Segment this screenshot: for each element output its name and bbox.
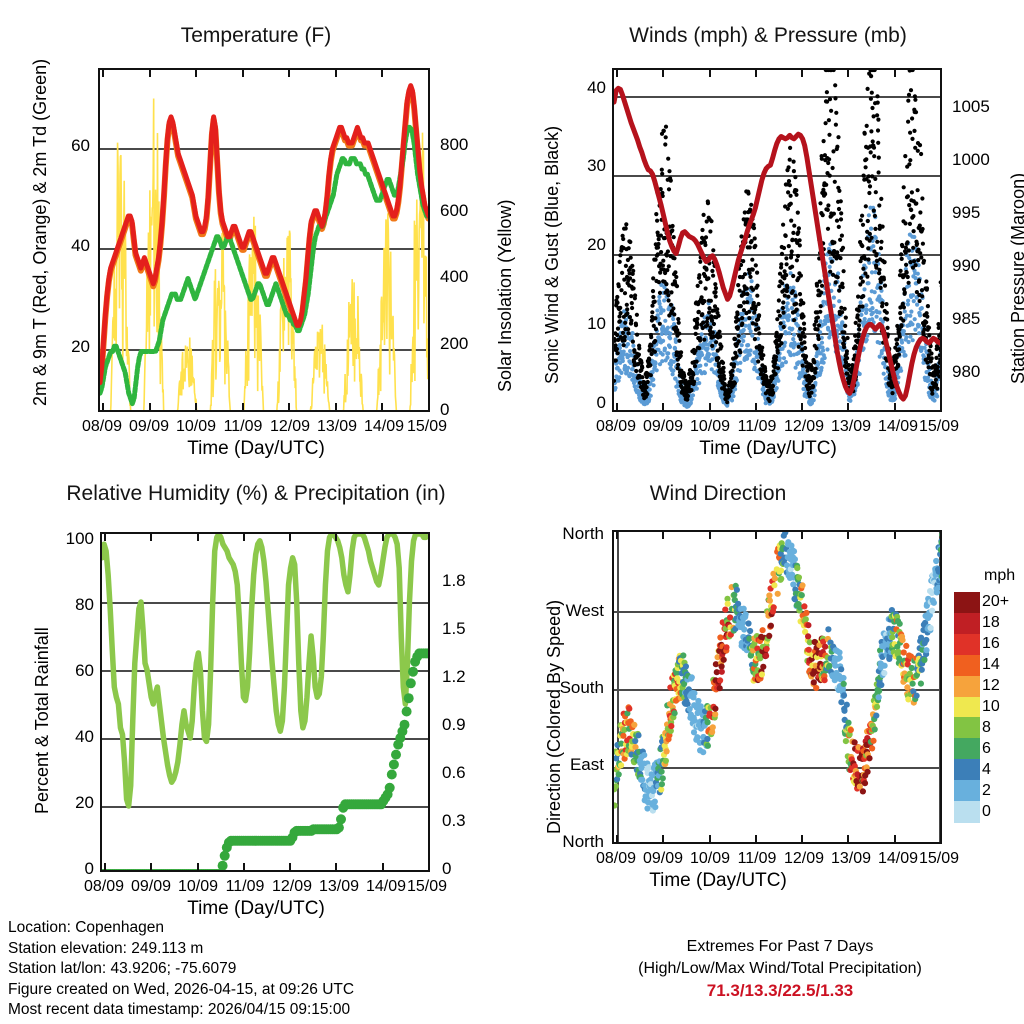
winds-y2tick-980: 980 bbox=[952, 362, 1006, 382]
winds-plot-area bbox=[612, 68, 942, 412]
humidity-xlabel: Time (Day/UTC) bbox=[0, 898, 512, 920]
temperature-y2tick-0: 0 bbox=[440, 400, 486, 420]
wind-direction-xlabel: Time (Day/UTC) bbox=[472, 870, 964, 892]
colorbar-band-10 bbox=[954, 697, 980, 719]
panel-temperature: Temperature (F) 2m & 9m T (Red, Orange) … bbox=[0, 14, 512, 460]
wind-direction-colorbar-labels: 20+181614121086420 bbox=[982, 592, 1024, 822]
winds-xticklabels: 08/09 09/09 10/09 11/09 12/09 13/09 14/0… bbox=[612, 418, 942, 440]
colorbar-band-20+ bbox=[954, 592, 980, 614]
winds-ytick-10: 10 bbox=[562, 314, 606, 334]
panel-winds-pressure: Winds (mph) & Pressure (mb) Sonic Wind &… bbox=[512, 14, 1024, 460]
wind-direction-colorbar-unit: mph bbox=[984, 567, 1015, 585]
winds-xlabel: Time (Day/UTC) bbox=[512, 438, 1024, 460]
wind-direction-ylabel: Direction (Colored By Speed) bbox=[544, 600, 565, 834]
x-tickmark bbox=[801, 532, 803, 539]
x-tickmark bbox=[662, 403, 664, 410]
colorbar-band-8 bbox=[954, 717, 980, 739]
humidity-y2tick-0_9-text: 0.9 bbox=[442, 715, 466, 734]
x-tickmark bbox=[382, 863, 384, 870]
winds-y2tick-995: 995 bbox=[952, 203, 1006, 223]
colorbar-label-10: 10 bbox=[982, 698, 1000, 716]
x-tickmark bbox=[755, 532, 757, 539]
x-tickmark bbox=[242, 70, 244, 77]
x-tickmark bbox=[335, 403, 337, 410]
temperature-series-svg bbox=[100, 70, 430, 412]
winds-title: Winds (mph) & Pressure (mb) bbox=[512, 24, 1024, 48]
winds-xtick-3: 11/09 bbox=[738, 418, 777, 436]
wind-direction-ytick-north-bottom: North bbox=[528, 832, 604, 852]
colorbar-label-18: 18 bbox=[982, 614, 1000, 632]
x-tickmark bbox=[940, 403, 942, 410]
x-tickmark bbox=[755, 70, 757, 77]
winds-xtick-4: 12/09 bbox=[784, 418, 824, 436]
extremes-subheading: (High/Low/Max Wind/Total Precipitation) bbox=[560, 958, 1000, 980]
wind-direction-xtick-5: 13/09 bbox=[831, 850, 871, 868]
figure-created: Figure created on Wed, 2026-04-15, at 09… bbox=[8, 980, 354, 1001]
colorbar-band-14 bbox=[954, 655, 980, 677]
x-tickmark bbox=[149, 70, 151, 77]
x-tickmark bbox=[102, 403, 104, 410]
colorbar-band-2 bbox=[954, 780, 980, 802]
winds-ytick-30: 30 bbox=[562, 156, 606, 176]
colorbar-band-12 bbox=[954, 676, 980, 698]
x-tickmark bbox=[662, 70, 664, 77]
x-tickmark bbox=[288, 70, 290, 77]
x-tickmark bbox=[755, 835, 757, 842]
x-tickmark bbox=[616, 403, 618, 410]
wind-direction-ytick-south: South bbox=[528, 678, 604, 698]
humidity-plot-area bbox=[100, 532, 430, 872]
wind-direction-plot-area bbox=[612, 530, 942, 844]
wind-direction-xtick-2: 10/09 bbox=[690, 850, 730, 868]
most-recent-data: Most recent data timestamp: 2026/04/15 0… bbox=[8, 1000, 354, 1021]
x-tickmark bbox=[616, 532, 618, 539]
x-tickmark bbox=[801, 403, 803, 410]
temperature-xtick-7: 15/09 bbox=[407, 418, 447, 436]
x-tickmark bbox=[243, 863, 245, 870]
temperature-xticklabels: 08/09 09/09 10/09 11/09 12/09 13/09 14/0… bbox=[98, 418, 430, 440]
humidity-y2tick-1_5-text: 1.5 bbox=[442, 619, 466, 638]
colorbar-label-4: 4 bbox=[982, 761, 991, 779]
temperature-ytick-40: 40 bbox=[48, 236, 90, 256]
wind-direction-title: Wind Direction bbox=[472, 482, 964, 506]
winds-xtick-5: 13/09 bbox=[831, 418, 871, 436]
colorbar-label-6: 6 bbox=[982, 740, 991, 758]
x-tickmark bbox=[150, 534, 152, 541]
wind-direction-colorbar bbox=[954, 592, 980, 822]
x-tickmark bbox=[709, 70, 711, 77]
humidity-y2tick-1_2-text: 1.2 bbox=[442, 667, 466, 686]
winds-xtick-7: 15/09 bbox=[919, 418, 959, 436]
x-tickmark bbox=[104, 534, 106, 541]
x-tickmark bbox=[428, 863, 430, 870]
x-tickmark bbox=[709, 835, 711, 842]
humidity-y2tick-0_6: 0.6 bbox=[442, 763, 492, 783]
x-tickmark bbox=[288, 403, 290, 410]
x-tickmark bbox=[428, 403, 430, 410]
panel-wind-direction: Wind Direction Direction (Colored By Spe… bbox=[512, 474, 1024, 920]
winds-ylabel: Sonic Wind & Gust (Blue, Black) bbox=[542, 126, 563, 384]
humidity-y2tick-0_3: 0.3 bbox=[442, 811, 492, 831]
wind-direction-ytick-north-top: North bbox=[528, 524, 604, 544]
station-latlon: Station lat/lon: 43.9206; -75.6079 bbox=[8, 959, 354, 980]
x-tickmark bbox=[381, 70, 383, 77]
temperature-plot-area bbox=[98, 68, 430, 412]
x-tickmark bbox=[801, 70, 803, 77]
humidity-ytick-0: 0 bbox=[40, 859, 94, 879]
temperature-xtick-2: 10/09 bbox=[176, 418, 216, 436]
colorbar-band-16 bbox=[954, 634, 980, 656]
winds-series-svg bbox=[614, 70, 942, 412]
x-tickmark bbox=[428, 534, 430, 541]
humidity-y2tick-1_5: 1.5 bbox=[442, 619, 492, 639]
winds-y2label: Station Pressure (Maroon) bbox=[1008, 173, 1024, 384]
colorbar-label-8: 8 bbox=[982, 719, 991, 737]
x-tickmark bbox=[149, 403, 151, 410]
winds-xtick-0: 08/09 bbox=[596, 418, 636, 436]
extremes-heading: Extremes For Past 7 Days bbox=[560, 936, 1000, 958]
x-tickmark bbox=[381, 403, 383, 410]
x-tickmark bbox=[662, 532, 664, 539]
x-tickmark bbox=[197, 863, 199, 870]
colorbar-label-2: 2 bbox=[982, 782, 991, 800]
winds-y2tick-990: 990 bbox=[952, 256, 1006, 276]
humidity-xtick-1: 09/09 bbox=[131, 878, 171, 896]
humidity-ytick-20: 20 bbox=[40, 793, 94, 813]
x-tickmark bbox=[709, 532, 711, 539]
winds-xtick-6: 14/09 bbox=[878, 418, 918, 436]
x-tickmark bbox=[335, 863, 337, 870]
temperature-ytick-20: 20 bbox=[48, 337, 90, 357]
temperature-xtick-5: 13/09 bbox=[317, 418, 357, 436]
x-tickmark bbox=[197, 534, 199, 541]
x-tickmark bbox=[102, 70, 104, 77]
colorbar-band-4 bbox=[954, 759, 980, 781]
x-tickmark bbox=[616, 835, 618, 842]
temperature-xtick-1: 09/09 bbox=[129, 418, 169, 436]
wind-direction-xtick-3: 11/09 bbox=[738, 850, 777, 868]
x-tickmark bbox=[940, 70, 942, 77]
temperature-y2tick-200: 200 bbox=[440, 334, 486, 354]
humidity-xtick-6: 14/09 bbox=[366, 878, 406, 896]
x-tickmark bbox=[195, 403, 197, 410]
x-tickmark bbox=[894, 835, 896, 842]
humidity-xtick-3: 11/09 bbox=[226, 878, 265, 896]
wind-direction-xtick-0: 08/09 bbox=[596, 850, 636, 868]
humidity-y2tick-1_2: 1.2 bbox=[442, 667, 492, 687]
humidity-ytick-100: 100 bbox=[40, 529, 94, 549]
humidity-ylabel: Percent & Total Rainfall bbox=[32, 627, 53, 814]
humidity-y2tick-0_6-text: 0.6 bbox=[442, 763, 466, 782]
humidity-xtick-7: 15/09 bbox=[407, 878, 447, 896]
winds-y2tick-1005: 1005 bbox=[952, 97, 1006, 117]
wind-direction-ytick-west: West bbox=[528, 601, 604, 621]
temperature-title: Temperature (F) bbox=[0, 24, 512, 48]
x-tickmark bbox=[243, 534, 245, 541]
winds-y2tick-1000: 1000 bbox=[952, 150, 1006, 170]
colorbar-label-20+: 20+ bbox=[982, 593, 1009, 611]
colorbar-band-18 bbox=[954, 613, 980, 635]
x-tickmark bbox=[335, 70, 337, 77]
x-tickmark bbox=[847, 403, 849, 410]
extremes-values: 71.3/13.3/22.5/1.33 bbox=[560, 980, 1000, 1002]
winds-ytick-40: 40 bbox=[562, 78, 606, 98]
station-location: Location: Copenhagen bbox=[8, 918, 354, 939]
colorbar-label-14: 14 bbox=[982, 656, 1000, 674]
colorbar-band-6 bbox=[954, 738, 980, 760]
x-tickmark bbox=[894, 70, 896, 77]
wind-direction-xticklabels: 08/09 09/09 10/09 11/09 12/09 13/09 14/0… bbox=[612, 850, 942, 872]
temperature-y2tick-800: 800 bbox=[440, 135, 486, 155]
colorbar-band-0 bbox=[954, 801, 980, 823]
humidity-ytick-60: 60 bbox=[40, 661, 94, 681]
x-tickmark bbox=[755, 403, 757, 410]
colorbar-label-0: 0 bbox=[982, 803, 991, 821]
panel-humidity-precip: Relative Humidity (%) & Precipitation (i… bbox=[0, 474, 512, 920]
x-tickmark bbox=[662, 835, 664, 842]
temperature-xtick-6: 14/09 bbox=[364, 418, 404, 436]
winds-xtick-2: 10/09 bbox=[690, 418, 730, 436]
x-tickmark bbox=[616, 70, 618, 77]
x-tickmark bbox=[382, 534, 384, 541]
x-tickmark bbox=[894, 403, 896, 410]
x-tickmark bbox=[289, 863, 291, 870]
winds-ytick-0: 0 bbox=[562, 393, 606, 413]
x-tickmark bbox=[709, 403, 711, 410]
wind-direction-ytick-east: East bbox=[528, 755, 604, 775]
winds-xtick-1: 09/09 bbox=[643, 418, 683, 436]
temperature-y2tick-400: 400 bbox=[440, 267, 486, 287]
humidity-y2tick-1_8-text: 1.8 bbox=[442, 571, 466, 590]
humidity-series-svg bbox=[102, 534, 430, 872]
wind-direction-xtick-6: 14/09 bbox=[878, 850, 918, 868]
x-tickmark bbox=[150, 863, 152, 870]
x-tickmark bbox=[940, 835, 942, 842]
colorbar-label-16: 16 bbox=[982, 635, 1000, 653]
x-tickmark bbox=[894, 532, 896, 539]
humidity-ytick-80: 80 bbox=[40, 595, 94, 615]
x-tickmark bbox=[847, 532, 849, 539]
wind-direction-xtick-4: 12/09 bbox=[784, 850, 824, 868]
temperature-y2tick-600: 600 bbox=[440, 201, 486, 221]
winds-y2tick-985: 985 bbox=[952, 309, 1006, 329]
x-tickmark bbox=[801, 835, 803, 842]
x-tickmark bbox=[242, 403, 244, 410]
temperature-xtick-0: 08/09 bbox=[82, 418, 122, 436]
humidity-xtick-2: 10/09 bbox=[178, 878, 218, 896]
humidity-title: Relative Humidity (%) & Precipitation (i… bbox=[0, 482, 512, 506]
wind-direction-scatter-svg bbox=[614, 532, 942, 844]
humidity-y2tick-0_3-text: 0.3 bbox=[442, 811, 466, 830]
wind-direction-xtick-1: 09/09 bbox=[643, 850, 683, 868]
temperature-xtick-3: 11/09 bbox=[224, 418, 263, 436]
x-tickmark bbox=[428, 70, 430, 77]
temperature-xlabel: Time (Day/UTC) bbox=[0, 438, 512, 460]
station-elevation: Station elevation: 249.113 m bbox=[8, 939, 354, 960]
wind-direction-xtick-7: 15/09 bbox=[919, 850, 959, 868]
x-tickmark bbox=[335, 534, 337, 541]
extremes-block: Extremes For Past 7 Days (High/Low/Max W… bbox=[560, 936, 1000, 1002]
humidity-y2tick-1_8: 1.8 bbox=[442, 571, 492, 591]
x-tickmark bbox=[195, 70, 197, 77]
humidity-ytick-40: 40 bbox=[40, 727, 94, 747]
humidity-xtick-4: 12/09 bbox=[272, 878, 312, 896]
winds-ytick-20: 20 bbox=[562, 235, 606, 255]
x-tickmark bbox=[104, 863, 106, 870]
colorbar-label-12: 12 bbox=[982, 677, 1000, 695]
x-tickmark bbox=[289, 534, 291, 541]
humidity-xtick-5: 13/09 bbox=[319, 878, 359, 896]
humidity-y2tick-0_0-text: 0 bbox=[442, 859, 451, 878]
x-tickmark bbox=[847, 70, 849, 77]
humidity-y2tick-0_9: 0.9 bbox=[442, 715, 492, 735]
temperature-ytick-60: 60 bbox=[48, 136, 90, 156]
station-metadata: Location: Copenhagen Station elevation: … bbox=[8, 918, 354, 1021]
temperature-xtick-4: 12/09 bbox=[270, 418, 310, 436]
x-tickmark bbox=[940, 532, 942, 539]
humidity-xticklabels: 08/09 09/09 10/09 11/09 12/09 13/09 14/0… bbox=[100, 878, 430, 900]
humidity-xtick-0: 08/09 bbox=[84, 878, 124, 896]
x-tickmark bbox=[847, 835, 849, 842]
